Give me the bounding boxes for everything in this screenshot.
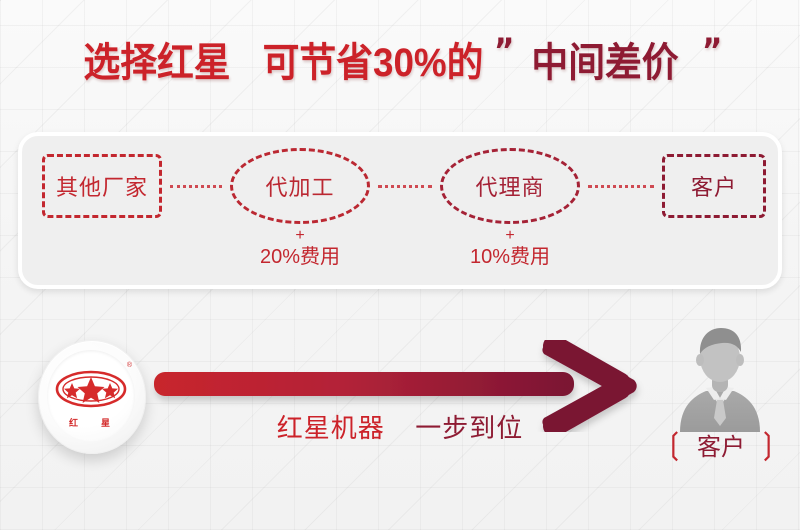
hongxing-logo-badge: ® 红 星: [38, 340, 146, 454]
headline-emphasis: 中间差价: [531, 30, 678, 88]
fee-amount: 10%费用: [430, 247, 590, 268]
headline-part2: 可节省30%的: [262, 30, 483, 88]
plus-sign: +: [430, 228, 590, 245]
poster-canvas: 选择红星 可节省30%的 ” 中间差价 ” 其他厂家 代加工 代理商 客户 + …: [0, 0, 800, 530]
fee-annotation-oem: + 20%费用: [220, 228, 380, 268]
three-stars-logo-icon: [53, 366, 129, 424]
flow-connector-1: [170, 185, 222, 188]
flow-connector-2: [378, 185, 432, 188]
customer-tag-label: 客户: [697, 427, 745, 462]
flow-node-label: 其他厂家: [56, 170, 148, 202]
flow-node-customer: 客户: [662, 154, 766, 218]
bracket-left-icon: ❲: [662, 427, 687, 462]
fee-amount: 20%费用: [220, 247, 380, 268]
plus-sign: +: [220, 228, 380, 245]
quote-open-mark: ”: [494, 31, 515, 71]
logo-word-xing: 星: [101, 416, 110, 429]
headline-part1: 选择红星: [83, 30, 230, 88]
flow-connector-3: [588, 185, 654, 188]
customer-avatar-icon: [664, 322, 776, 432]
caption-part1: 红星机器: [277, 413, 385, 443]
middleman-flow-card: 其他厂家 代加工 代理商 客户 + 20%费用 + 10%费用: [18, 132, 782, 289]
fee-annotation-agent: + 10%费用: [430, 228, 590, 268]
caption-part2: 一步到位: [415, 413, 523, 443]
arrow-caption: 红星机器 一步到位: [200, 408, 600, 445]
flow-node-label: 代加工: [265, 170, 334, 202]
registered-trademark-icon: ®: [127, 362, 132, 369]
logo-inner-disc: ® 红 星: [47, 350, 135, 442]
page-title: 选择红星 可节省30%的 ” 中间差价 ”: [0, 28, 800, 90]
flow-node-oem-processing: 代加工: [230, 148, 370, 224]
flow-node-other-manufacturer: 其他厂家: [42, 154, 162, 218]
customer-tag: ❲ 客户 ❳: [646, 428, 796, 460]
quote-close-mark: ”: [702, 31, 723, 71]
flow-node-label: 客户: [691, 170, 737, 202]
flow-node-label: 代理商: [475, 170, 544, 202]
flow-node-agent: 代理商: [440, 148, 580, 224]
logo-word-hong: 红: [69, 416, 78, 429]
bracket-right-icon: ❳: [755, 427, 780, 462]
